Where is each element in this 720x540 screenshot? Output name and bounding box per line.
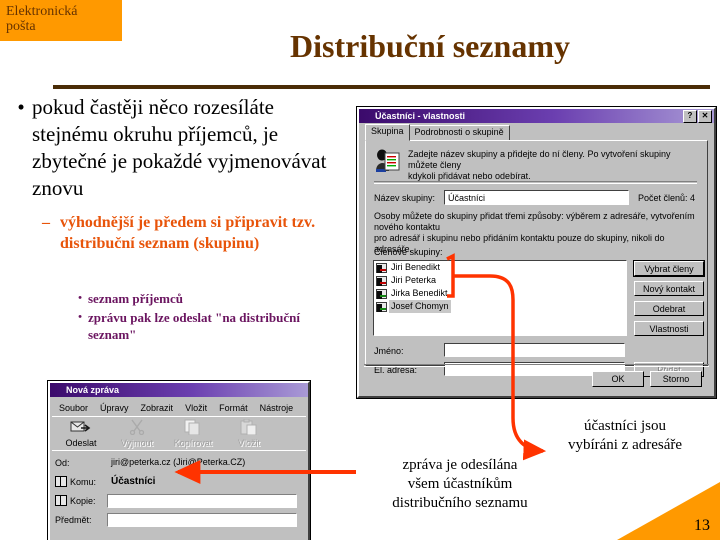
list-item[interactable]: Jiri Peterka [374, 274, 626, 287]
dialog-footer-divider [364, 364, 709, 367]
group-properties-dialog[interactable]: Účastníci - vlastnosti ? ✕ Skupina Podro… [357, 107, 716, 398]
paste-icon [238, 419, 260, 435]
member-count-label: Počet členů: 4 [638, 193, 695, 204]
slide-header-line2: pošta [6, 19, 122, 34]
dialog-panel: Zadejte název skupiny a přidejte do ní č… [365, 140, 708, 366]
annotation-right-line2: vybíráni z adresáře [530, 436, 720, 455]
field-row-komu[interactable]: Komu: Účastníci [55, 474, 297, 489]
group-name-input[interactable]: Účastníci [444, 190, 629, 205]
contact-name-input[interactable] [444, 343, 625, 357]
panel-divider-top [374, 181, 697, 184]
properties-button[interactable]: Vlastnosti [634, 321, 704, 336]
field-value-kopie[interactable] [107, 494, 297, 508]
dialog-tabs[interactable]: Skupina Podrobnosti o skupině [365, 127, 509, 141]
field-value-predmet[interactable] [107, 513, 297, 527]
menu-nastroje[interactable]: Nástroje [254, 403, 300, 413]
annotation-left-line2: všem účastníkům [340, 475, 580, 494]
bullet-level1: •pokud častěji něco rozesíláte stejnému … [10, 94, 350, 202]
list-item-label: Jiri Peterka [389, 274, 438, 287]
bullet-level2-marker: – [42, 212, 60, 233]
new-contact-button[interactable]: Nový kontakt [634, 281, 704, 296]
tab-skupina[interactable]: Skupina [365, 124, 410, 141]
toolbar-paste-label: Vložit [221, 438, 277, 448]
field-row-kopie[interactable]: Kopie: [55, 493, 297, 508]
bullet-level3-marker: • [72, 290, 88, 307]
menu-soubor[interactable]: Soubor [53, 403, 94, 413]
field-value-komu[interactable]: Účastníci [107, 475, 297, 489]
field-label-od: Od: [55, 458, 107, 468]
contact-icon [376, 302, 387, 312]
cancel-button[interactable]: Storno [650, 371, 702, 387]
members-listbox[interactable]: Jiri Benedikt Jiri Peterka Jirka Benedik… [373, 260, 627, 336]
remove-button[interactable]: Odebrat [634, 301, 704, 316]
group-icon [374, 149, 400, 173]
contact-icon [376, 289, 387, 299]
send-icon [70, 419, 92, 435]
bullet-level1-text: pokud častěji něco rozesíláte stejnému o… [32, 94, 332, 202]
bullet-level2: –výhodnější je předem si připravit tzv. … [42, 212, 362, 254]
dialog-hint: Zadejte název skupiny a přidejte do ní č… [408, 149, 699, 182]
message-menubar[interactable]: Soubor Úpravy Zobrazit Vložit Formát Nás… [53, 400, 306, 415]
list-item[interactable]: Josef Chomyn [374, 300, 626, 313]
menu-vlozit[interactable]: Vložit [179, 403, 213, 413]
menu-format[interactable]: Formát [213, 403, 254, 413]
field-label-predmet: Předmět: [55, 515, 107, 525]
list-item-label: Josef Chomyn [389, 300, 451, 313]
annotation-left-line3: distribučního seznamu [340, 494, 580, 513]
ok-button[interactable]: OK [592, 371, 644, 387]
dialog-info-line1: Osoby můžete do skupiny přidat třemi způ… [374, 211, 701, 233]
group-name-label: Název skupiny: [374, 193, 435, 204]
page-title: Distribuční seznamy [150, 28, 710, 64]
field-label-komu-text: Komu: [70, 477, 96, 487]
list-item[interactable]: Jiri Benedikt [374, 261, 626, 274]
tab-podrobnosti[interactable]: Podrobnosti o skupině [409, 125, 510, 141]
title-divider [53, 85, 710, 89]
toolbar-divider [52, 450, 306, 452]
page-number: 13 [694, 517, 710, 535]
dialog-title: Účastníci - vlastnosti [361, 111, 682, 121]
dialog-title-bar[interactable]: Účastníci - vlastnosti ? ✕ [359, 109, 714, 123]
copy-icon [182, 419, 204, 435]
bullet-level2-text: výhodnější je předem si připravit tzv. d… [60, 212, 342, 254]
menu-upravy[interactable]: Úpravy [94, 403, 135, 413]
list-item-label: Jirka Benedikt [389, 287, 450, 300]
field-label-komu: Komu: [55, 476, 107, 487]
select-members-button[interactable]: Vybrat členy [634, 261, 704, 276]
field-row-predmet[interactable]: Předmět: [55, 512, 297, 527]
field-label-kopie: Kopie: [55, 495, 107, 506]
cut-icon [126, 419, 148, 435]
field-label-kopie-text: Kopie: [70, 496, 96, 506]
slide-canvas: Elektronická pošta Distribuční seznamy •… [0, 0, 720, 540]
dialog-hint-line1: Zadejte název skupiny a přidejte do ní č… [408, 149, 699, 171]
bullet-level3-list: •seznam příjemců •zprávu pak lze odeslat… [72, 290, 342, 345]
new-message-window[interactable]: Nová zpráva Soubor Úpravy Zobrazit Vloži… [48, 381, 310, 540]
help-button[interactable]: ? [683, 110, 697, 123]
toolbar-send-button[interactable]: Odeslat [53, 418, 109, 448]
toolbar-copy-button[interactable]: Kopírovat [165, 418, 221, 448]
bullet-level3-text: zprávu pak lze odeslat "na distribuční s… [88, 309, 318, 343]
list-item-label: Jiri Benedikt [389, 261, 442, 274]
bullet-level3-marker: • [72, 309, 88, 326]
contact-name-label: Jméno: [374, 346, 404, 357]
annotation-right: účastníci jsou vybíráni z adresáře [530, 417, 720, 455]
toolbar-copy-label: Kopírovat [165, 438, 221, 448]
slide-header-line1: Elektronická [6, 4, 122, 19]
annotation-left-line1: zpráva je odesílána [340, 456, 580, 475]
toolbar-paste-button[interactable]: Vložit [221, 418, 277, 448]
members-label: Členové skupiny: [374, 247, 443, 258]
message-window-title: Nová zpráva [52, 385, 306, 395]
list-item[interactable]: Jirka Benedikt [374, 287, 626, 300]
annotation-right-line1: účastníci jsou [530, 417, 720, 436]
contact-icon [376, 263, 387, 273]
contact-icon [376, 276, 387, 286]
toolbar-send-label: Odeslat [53, 438, 109, 448]
bullet-level3-item: •seznam příjemců [72, 290, 342, 307]
address-book-icon[interactable] [55, 476, 67, 487]
menu-zobrazit[interactable]: Zobrazit [135, 403, 180, 413]
bullet-level1-marker: • [10, 94, 32, 121]
close-icon[interactable]: ✕ [698, 110, 712, 123]
annotation-left: zpráva je odesílána všem účastníkům dist… [340, 456, 580, 513]
bullet-level3-text: seznam příjemců [88, 290, 318, 307]
slide-header-tag: Elektronická pošta [0, 0, 122, 41]
toolbar-cut-button[interactable]: Vyjmout [109, 418, 165, 448]
message-toolbar[interactable]: Odeslat Vyjmout Kopírovat [53, 418, 306, 448]
field-row-od: Od: jiri@peterka.cz (Jiri@Peterka.CZ) [55, 455, 297, 470]
address-book-icon[interactable] [55, 495, 67, 506]
toolbar-cut-label: Vyjmout [109, 438, 165, 448]
bullet-level3-item: •zprávu pak lze odeslat "na distribuční … [72, 309, 342, 343]
message-title-bar[interactable]: Nová zpráva [50, 383, 308, 397]
field-value-od: jiri@peterka.cz (Jiri@Peterka.CZ) [107, 456, 297, 470]
